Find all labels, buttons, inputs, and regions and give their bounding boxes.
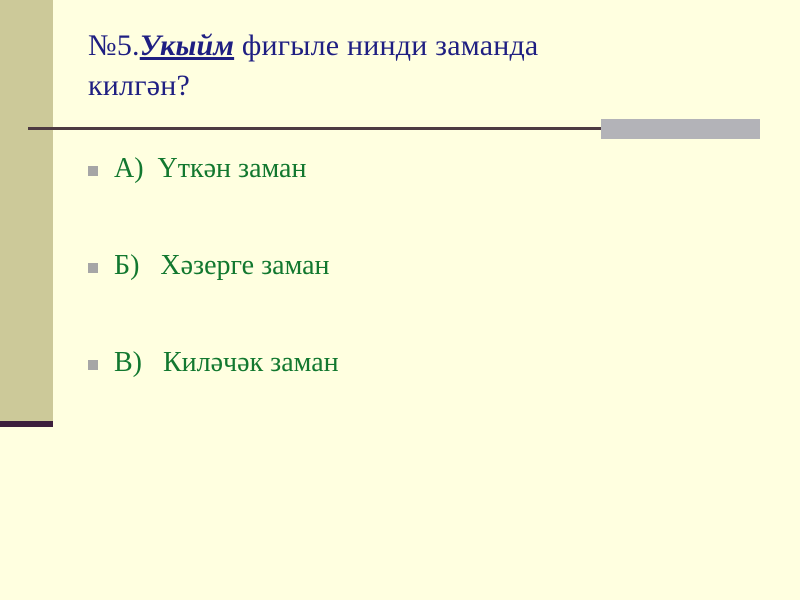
title-line-1-rest: фигыле нинди заманда <box>234 29 538 62</box>
square-bullet-icon <box>88 263 98 273</box>
answer-option-b[interactable]: Б) Хәзерге заман <box>88 249 728 346</box>
title-line-1: №5.Укыйм фигыле нинди заманда <box>88 26 748 66</box>
answer-options-list: А) Үткән заман Б) Хәзерге заман В) Киләч… <box>88 152 728 443</box>
slide-title: №5.Укыйм фигыле нинди заманда килгән? <box>88 26 748 106</box>
answer-option-c[interactable]: В) Киләчәк заман <box>88 346 728 443</box>
square-bullet-icon <box>88 360 98 370</box>
title-question-number: №5. <box>88 29 140 62</box>
presentation-slide: №5.Укыйм фигыле нинди заманда килгән? А)… <box>0 0 800 600</box>
answer-option-a-label: А) Үткән заман <box>114 152 306 186</box>
title-divider-accent-bar <box>601 119 760 139</box>
square-bullet-icon <box>88 166 98 176</box>
title-emphasis-word: Укыйм <box>140 29 234 62</box>
answer-option-b-label: Б) Хәзерге заман <box>114 249 330 283</box>
title-line-2: килгән? <box>88 66 748 106</box>
sidebar-underline-bar <box>0 421 53 427</box>
sidebar-decoration-band <box>0 0 53 421</box>
answer-option-c-label: В) Киләчәк заман <box>114 346 339 380</box>
answer-option-a[interactable]: А) Үткән заман <box>88 152 728 249</box>
